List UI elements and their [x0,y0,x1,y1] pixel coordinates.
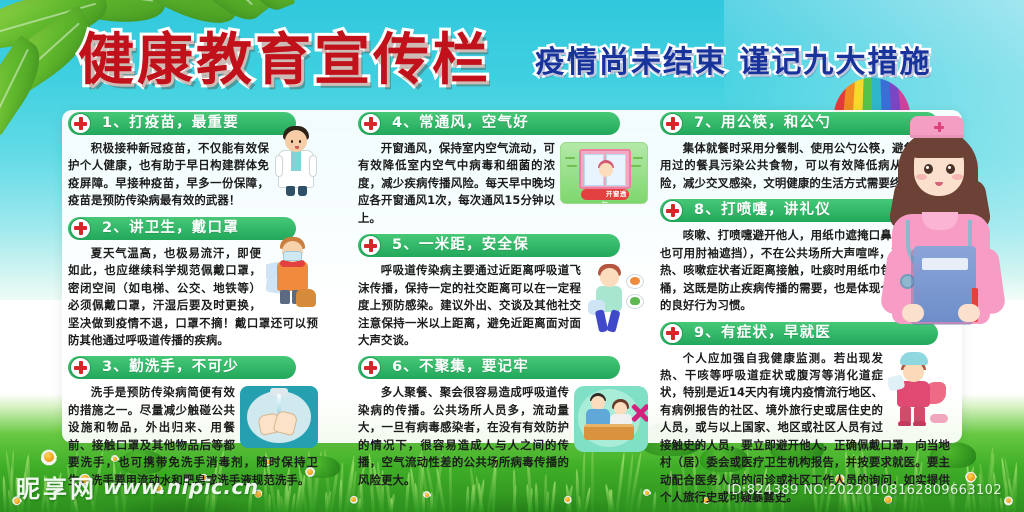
watermark-url: www.nipic.cn [103,475,259,499]
item-card-2[interactable]: 2、讲卫生，戴口罩 夏天气温高，也极易流汗，即便如此，也应继续科学规范佩戴口罩，… [68,217,318,350]
item-body-1: 积极接种新冠疫苗，不仅能有效保护个人健康，也有助于早日构建群体免疫屏障。早接种疫… [68,140,318,210]
page-title: 健康教育宣传栏 [78,33,491,89]
image-id-text: ID:824389 NO:20220108162809663102 [727,483,1002,498]
item-title-8: 8、打喷嚏，讲礼仪 [694,199,831,222]
item-title-9: 9、有症状，早就医 [694,322,831,345]
red-cross-icon [662,323,683,344]
item-body-text-5: 呼吸道传染病主要通过近距离呼吸道飞沫传播，保持一定的社交距离可以在一定程度上预防… [358,263,581,347]
item-card-1[interactable]: 1、打疫苗，最重要 积极接种新冠疫苗，不仅能有效保护个人健康，也有助于早日构建群… [68,112,318,210]
item-title-7: 7、用公筷，和公勺 [694,112,831,135]
item-banner-1: 1、打疫苗，最重要 [68,112,296,135]
item-title-2: 2、讲卫生，戴口罩 [102,217,239,240]
red-cross-icon [70,218,91,239]
item-card-4[interactable]: 4、常通风，空气好 开窗透气 开窗通风，保持室内空气流动，可有效降低室内空气中病… [358,112,648,227]
item-body-4: 开窗透气 开窗通风，保持室内空气流动，可有效降低室内空气中病毒和细菌的浓度，减少… [358,140,648,227]
column-2: 4、常通风，空气好 开窗透气 开窗通风，保持室内空气流动，可有效降低室内空气中病… [358,112,648,496]
item-title-3: 3、勤洗手，不可少 [102,356,239,379]
window-label: 开窗透气 [581,189,629,200]
handwashing-illustration [240,386,318,448]
doctor-illustration [274,122,318,196]
watermark: 昵享网 www.nipic.cn [16,469,259,504]
item-banner-2: 2、讲卫生，戴口罩 [68,217,296,240]
item-body-text-6: 多人聚餐、聚会很容易造成呼吸道传染病的传播。公共场所人员多，流动量大，一旦有病毒… [358,385,569,486]
item-body-2: 夏天气温高，也极易流汗，即便如此，也应继续科学规范佩戴口罩，密闭空间（如电梯、公… [68,245,318,350]
red-x-icon [629,402,648,424]
item-banner-4: 4、常通风，空气好 [358,112,620,135]
red-cross-icon [360,357,381,378]
item-banner-5: 5、一米距，安全保 [358,234,620,257]
item-banner-6: 6、不聚集，要记牢 [358,356,620,379]
item-title-6: 6、不聚集，要记牢 [392,356,529,379]
nurse-illustration [872,116,1008,420]
column-1: 1、打疫苗，最重要 积极接种新冠疫苗，不仅能有效保护个人健康，也有助于早日构建群… [68,112,318,496]
item-title-1: 1、打疫苗，最重要 [102,112,239,135]
red-cross-icon [70,113,91,134]
poster-canvas: 健康教育宣传栏 疫情尚未结束 谨记九大措施 1、打疫苗，最重要 积极接种新冠疫苗… [0,0,1024,512]
masked-person-illustration [266,235,318,309]
red-cross-icon [662,200,683,221]
page-subtitle: 疫情尚未结束 谨记九大措施 [535,48,931,78]
item-body-6: 多人聚餐、聚会很容易造成呼吸道传染病的传播。公共场所人员多，流动量大，一旦有病毒… [358,384,648,489]
red-cross-icon [360,113,381,134]
social-distance-illustration [586,264,648,334]
red-cross-icon [70,357,91,378]
no-gathering-illustration [574,386,648,452]
item-title-4: 4、常通风，空气好 [392,112,529,135]
item-body-text-1: 积极接种新冠疫苗，不仅能有效保护个人健康，也有助于早日构建群体免疫屏障。早接种疫… [68,141,269,207]
item-banner-3: 3、勤洗手，不可少 [68,356,296,379]
item-body-5: 呼吸道传染病主要通过近距离呼吸道飞沫传播，保持一定的社交距离可以在一定程度上预防… [358,262,648,349]
item-title-5: 5、一米距，安全保 [392,234,529,257]
watermark-brand: 昵享网 [16,469,97,504]
item-card-6[interactable]: 6、不聚集，要记牢 多人聚餐、聚会很容易造成呼吸道传染病的传播。公共场所人员多，… [358,356,648,489]
open-window-illustration: 开窗透气 [560,142,648,204]
item-card-5[interactable]: 5、一米距，安全保 呼吸道传染病主要通过近距离呼吸道飞沫传播，保持一定的社交距离… [358,234,648,349]
red-cross-icon [360,235,381,256]
item-body-text-4: 开窗通风，保持室内空气流动，可有效降低室内空气中病毒和细菌的浓度，减少疾病传播风… [358,141,555,225]
red-cross-icon [662,113,683,134]
